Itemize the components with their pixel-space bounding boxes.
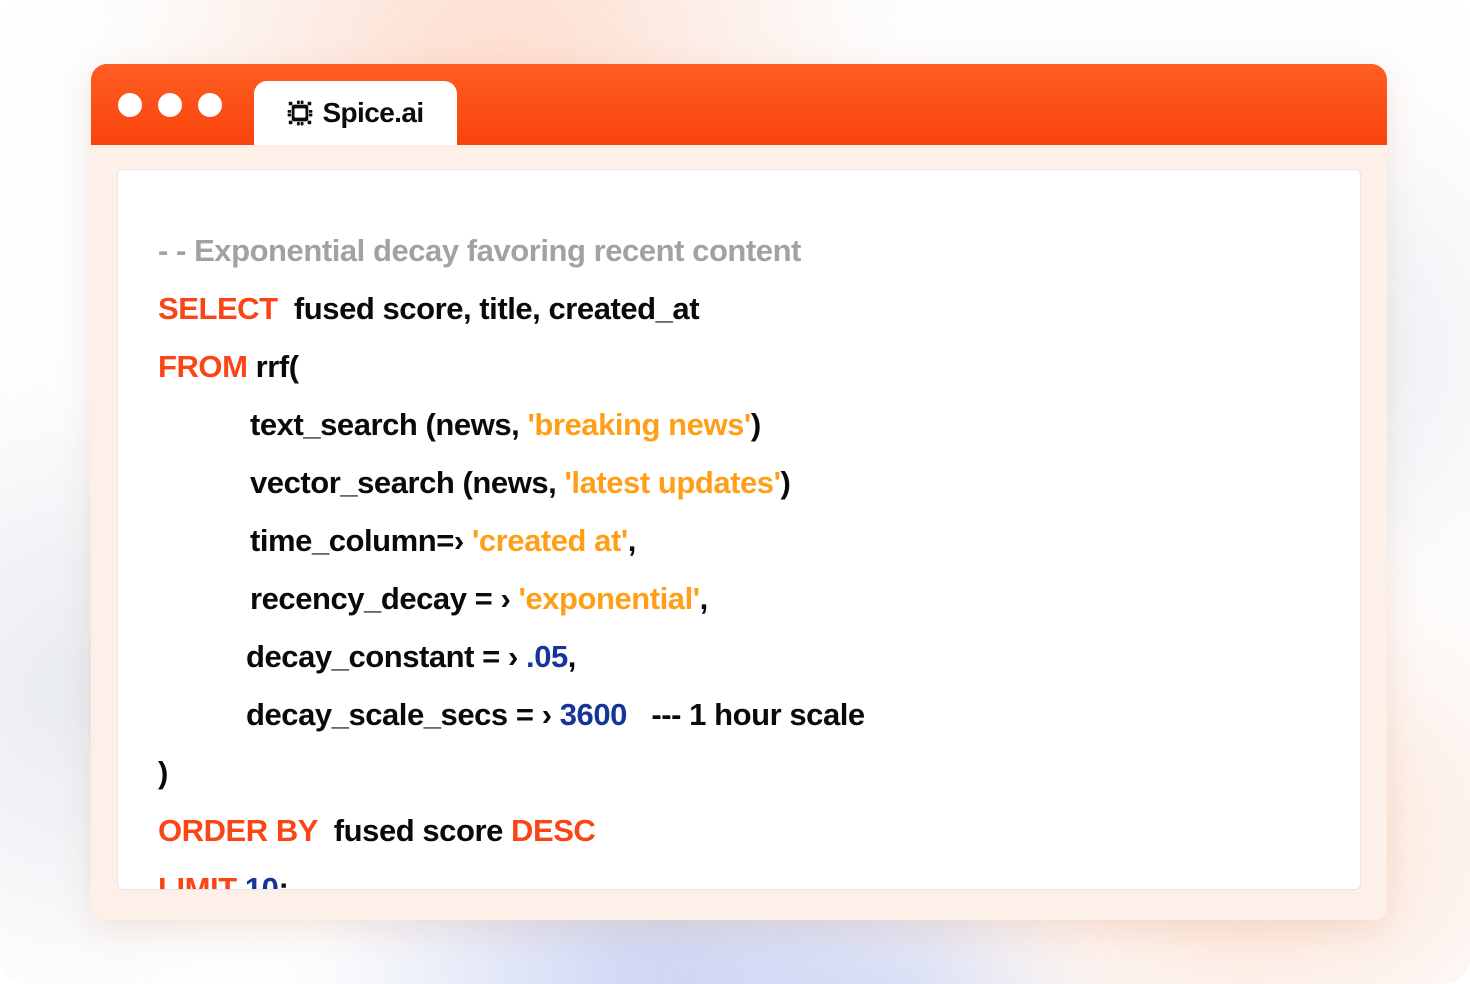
code-line: ORDER BY fused score DESC <box>158 802 1320 860</box>
code-token-plain: , <box>628 523 636 558</box>
code-token-keyword: LIMIT <box>158 871 237 890</box>
code-line: recency_decay = › 'exponential', <box>158 570 1320 628</box>
tab-label: Spice.ai <box>322 99 423 127</box>
code-token-plain: , <box>700 581 708 616</box>
code-card: - - Exponential decay favoring recent co… <box>117 169 1361 890</box>
tab-spice-ai[interactable]: Spice.ai <box>254 81 457 145</box>
code-token-plain: text_search (news, <box>250 407 527 442</box>
code-token-string: 'exponential' <box>519 581 700 616</box>
code-token-keyword: FROM <box>158 349 247 384</box>
code-token-string: 'created at' <box>472 523 628 558</box>
code-token-number: .05 <box>526 639 568 674</box>
traffic-light-controls <box>118 93 222 117</box>
code-line: - - Exponential decay favoring recent co… <box>158 222 1320 280</box>
code-token-plain: rrf( <box>247 349 298 384</box>
code-token-plain: ) <box>158 755 168 790</box>
code-token-number: 10 <box>245 871 279 890</box>
browser-window: Spice.ai - - Exponential decay favoring … <box>91 64 1387 920</box>
code-token-plain: decay_constant = › <box>246 639 526 674</box>
code-token-plain: recency_decay = › <box>250 581 519 616</box>
code-token-number: 3600 <box>560 697 627 732</box>
code-line: decay_constant = › .05, <box>158 628 1320 686</box>
code-token-plain: --- 1 hour scale <box>627 697 865 732</box>
minimize-dot-icon[interactable] <box>158 93 182 117</box>
code-token-string: 'breaking news' <box>527 407 750 442</box>
code-token-plain: ) <box>781 465 791 500</box>
code-token-string: 'latest updates' <box>565 465 781 500</box>
code-token-plain: ; <box>278 871 288 890</box>
window-title-bar: Spice.ai <box>91 64 1387 145</box>
code-line: ) <box>158 744 1320 802</box>
code-token-plain: decay_scale_secs = › <box>246 697 560 732</box>
code-token-keyword: SELECT <box>158 291 278 326</box>
code-token-plain: fused score, title, created_at <box>278 291 700 326</box>
code-line: LIMIT 10; <box>158 860 1320 890</box>
code-token-plain: time_column=› <box>250 523 472 558</box>
close-dot-icon[interactable] <box>118 93 142 117</box>
code-token-plain: fused score <box>317 813 511 848</box>
code-token-plain: vector_search (news, <box>250 465 565 500</box>
code-line: text_search (news, 'breaking news') <box>158 396 1320 454</box>
code-token-plain: ) <box>751 407 761 442</box>
window-body: - - Exponential decay favoring recent co… <box>91 145 1387 920</box>
code-line: time_column=› 'created at', <box>158 512 1320 570</box>
code-token-keyword: DESC <box>511 813 595 848</box>
code-token-comment: - - Exponential decay favoring recent co… <box>158 233 801 268</box>
code-line: decay_scale_secs = › 3600 --- 1 hour sca… <box>158 686 1320 744</box>
code-token-keyword: ORDER BY <box>158 813 317 848</box>
spice-cog-icon <box>287 100 313 126</box>
code-line: SELECT fused score, title, created_at <box>158 280 1320 338</box>
code-line: FROM rrf( <box>158 338 1320 396</box>
code-token-plain <box>237 871 245 890</box>
maximize-dot-icon[interactable] <box>198 93 222 117</box>
code-line: vector_search (news, 'latest updates') <box>158 454 1320 512</box>
code-token-plain: , <box>568 639 576 674</box>
sql-code-block[interactable]: - - Exponential decay favoring recent co… <box>118 222 1360 890</box>
